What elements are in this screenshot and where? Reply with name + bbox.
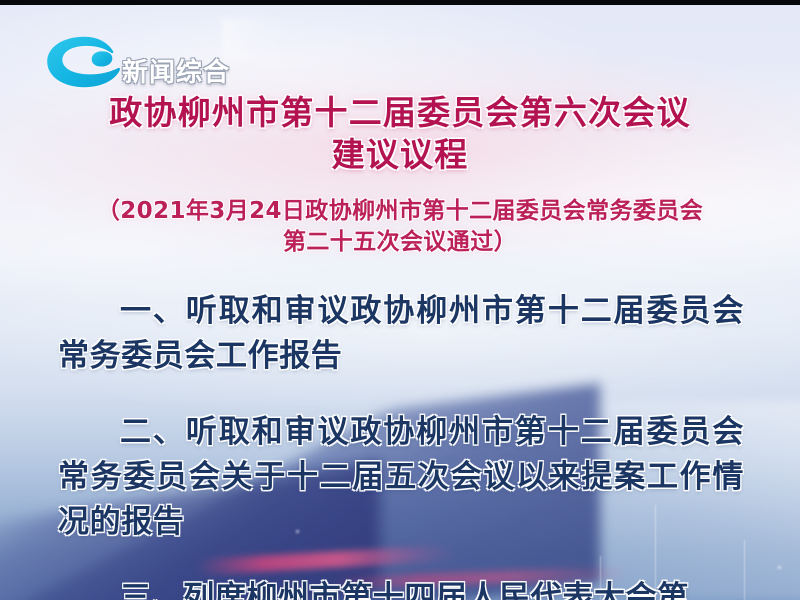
broadcast-frame: 新闻综合 政协柳州市第十二届委员会第六次会议 建议议程 （2021年3月24日政… — [0, 0, 800, 600]
title-line-1: 政协柳州市第十二届委员会第六次会议 — [0, 92, 800, 134]
subtitle-line-2: 第二十五次会议通过） — [0, 227, 800, 258]
title-line-2: 建议议程 — [0, 134, 800, 176]
agenda-item: 二、听取和审议政协柳州市第十二届委员会常务委员会关于十二届五次会议以来提案工作情… — [58, 410, 744, 545]
caption-title: 政协柳州市第十二届委员会第六次会议 建议议程 — [0, 92, 800, 176]
channel-name-label: 新闻综合 — [122, 52, 230, 89]
caption-subtitle: （2021年3月24日政协柳州市第十二届委员会常务委员会 第二十五次会议通过） — [0, 196, 800, 258]
caption-block: 政协柳州市第十二届委员会第六次会议 建议议程 （2021年3月24日政协柳州市第… — [0, 92, 800, 600]
agenda-item: 一、听取和审议政协柳州市第十二届委员会常务委员会工作报告 — [58, 289, 744, 379]
agenda-list: 一、听取和审议政协柳州市第十二届委员会常务委员会工作报告 二、听取和审议政协柳州… — [0, 289, 800, 600]
channel-swirl-logo-icon — [44, 33, 124, 91]
subtitle-line-1: （2021年3月24日政协柳州市第十二届委员会常务委员会 — [0, 196, 800, 227]
letterbox-bar-top — [0, 0, 800, 5]
background-watermark — [222, 18, 286, 58]
agenda-item: 三、列席柳州市第十四届人民代表大会第 — [58, 576, 744, 600]
channel-logo-bug: 新闻综合 — [44, 32, 230, 92]
